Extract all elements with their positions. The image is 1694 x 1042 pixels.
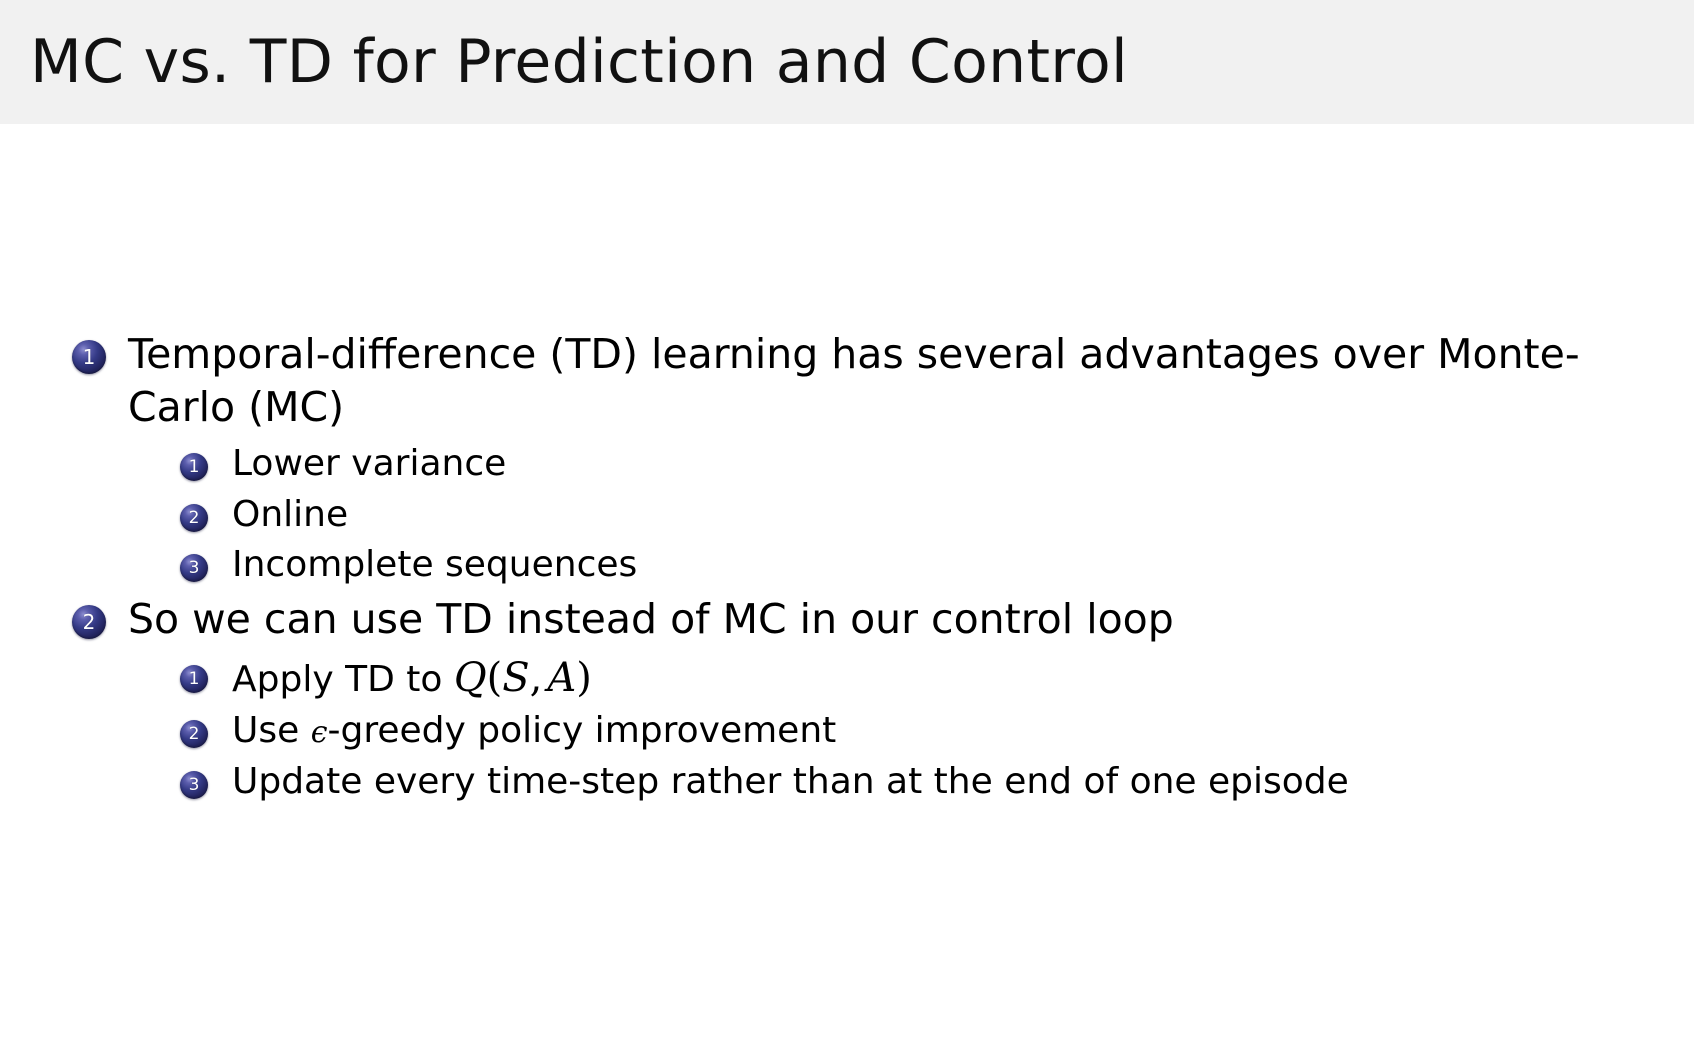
list-item-label: Update every time-step rather than at th… xyxy=(232,760,1349,804)
text-run: Use xyxy=(232,710,311,751)
math-comma: , xyxy=(530,655,548,701)
list-item-label: Online xyxy=(232,493,348,537)
math-close-paren: ) xyxy=(576,655,592,701)
enumerate-ball-icon: 2 xyxy=(180,504,208,532)
slide-body: 1 Temporal-difference (TD) learning has … xyxy=(0,124,1694,1042)
page-title: MC vs. TD for Prediction and Control xyxy=(0,32,1128,92)
math-open-paren: ( xyxy=(487,655,503,701)
math-symbol-epsilon: ϵ xyxy=(311,715,328,750)
enumerate-ball-icon: 2 xyxy=(72,605,106,639)
slide-title-bar: MC vs. TD for Prediction and Control xyxy=(0,0,1694,124)
list-item-label: Use ϵ-greedy policy improvement xyxy=(232,709,836,753)
list-item-label: So we can use TD instead of MC in our co… xyxy=(128,593,1174,646)
list-item: 3 Incomplete sequences xyxy=(180,546,1694,587)
list-item: 2 Use ϵ-greedy policy improvement xyxy=(180,712,1694,753)
text-run: -greedy policy improvement xyxy=(328,710,837,751)
enumerate-ball-icon: 2 xyxy=(180,720,208,748)
list-item: 2 So we can use TD instead of MC in our … xyxy=(0,597,1694,646)
list-item: 1 Lower variance xyxy=(180,445,1694,486)
outline-list: 1 Temporal-difference (TD) learning has … xyxy=(0,332,1694,814)
enumerate-ball-icon: 1 xyxy=(180,453,208,481)
list-item-label: Incomplete sequences xyxy=(232,543,637,587)
list-item: 2 Online xyxy=(180,496,1694,537)
math-symbol-s: S xyxy=(502,655,529,701)
list-item: 3 Update every time-step rather than at … xyxy=(180,763,1694,804)
sublist: 1 Lower variance 2 Online 3 Incomplete s… xyxy=(0,445,1694,588)
math-symbol-q: Q xyxy=(454,655,487,701)
enumerate-ball-icon: 1 xyxy=(180,665,208,693)
list-item-label: Apply TD to Q(S,A) xyxy=(232,654,592,703)
enumerate-ball-icon: 1 xyxy=(72,340,106,374)
list-item-label: Temporal-difference (TD) learning has se… xyxy=(128,328,1628,435)
list-item-label: Lower variance xyxy=(232,442,506,486)
enumerate-ball-icon: 3 xyxy=(180,771,208,799)
sublist: 1 Apply TD to Q(S,A) 2 Use ϵ-greedy poli… xyxy=(0,657,1694,805)
text-run: Apply TD to xyxy=(232,659,454,700)
enumerate-ball-icon: 3 xyxy=(180,554,208,582)
math-symbol-a: A xyxy=(547,655,576,701)
list-item: 1 Apply TD to Q(S,A) xyxy=(180,657,1694,703)
slide: MC vs. TD for Prediction and Control 1 T… xyxy=(0,0,1694,1042)
list-item: 1 Temporal-difference (TD) learning has … xyxy=(0,332,1694,435)
